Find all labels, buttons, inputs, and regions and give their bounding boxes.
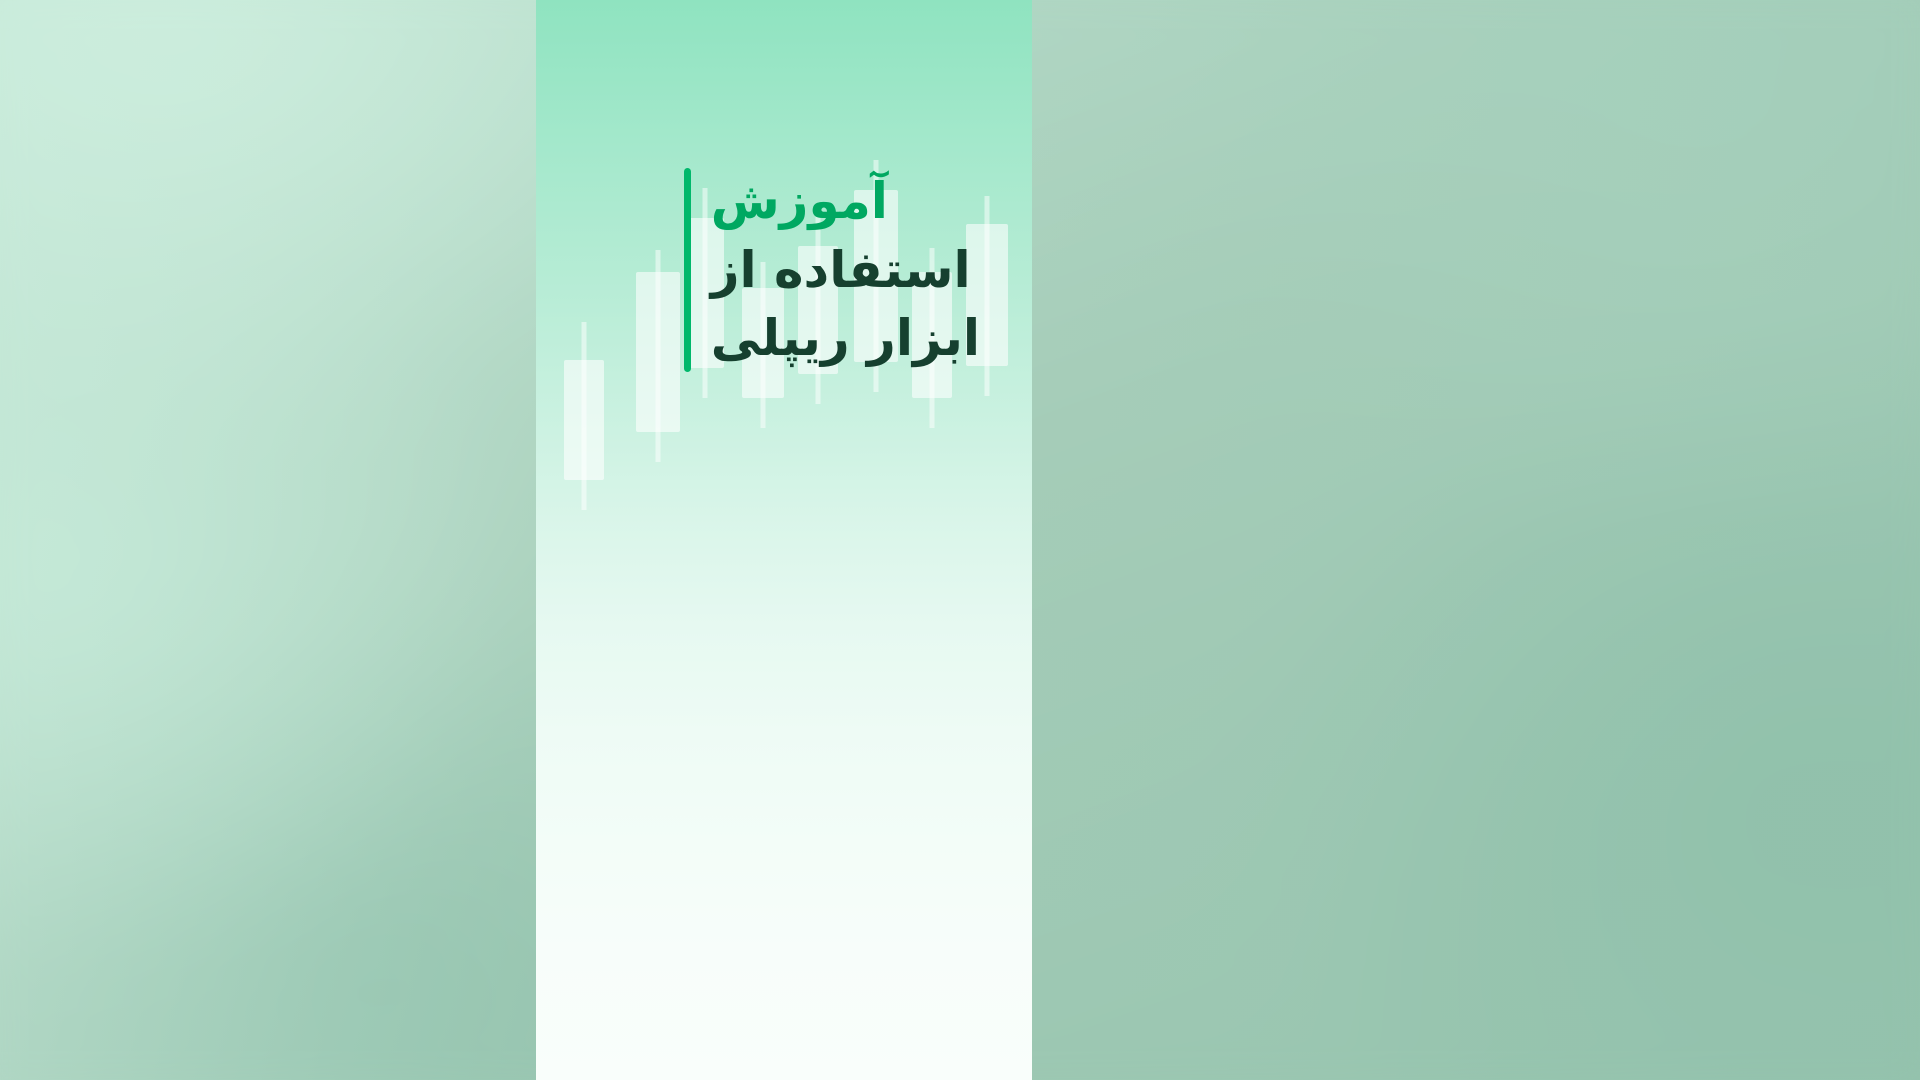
ghost-candle-body: [636, 272, 680, 432]
ghost-candle-wick: [582, 322, 587, 510]
poster-canvas: آموزش استفاده از ابزار ریپلی: [0, 0, 1920, 1080]
title-line-3: ابزار ریپلی: [711, 305, 980, 372]
ghost-candle: [636, 250, 680, 472]
title-line-1: آموزش: [711, 168, 888, 235]
title-block: آموزش استفاده از ابزار ریپلی: [684, 168, 980, 372]
title-accent-bar: [684, 168, 691, 372]
ghost-candle-body: [564, 360, 604, 480]
title-lines: آموزش استفاده از ابزار ریپلی: [711, 168, 980, 372]
ghost-candle-wick: [985, 196, 990, 396]
content-panel: آموزش استفاده از ابزار ریپلی: [536, 0, 1032, 1080]
ghost-candle: [564, 322, 604, 520]
ghost-candle-wick: [656, 250, 661, 462]
title-line-2: استفاده از: [711, 237, 971, 304]
